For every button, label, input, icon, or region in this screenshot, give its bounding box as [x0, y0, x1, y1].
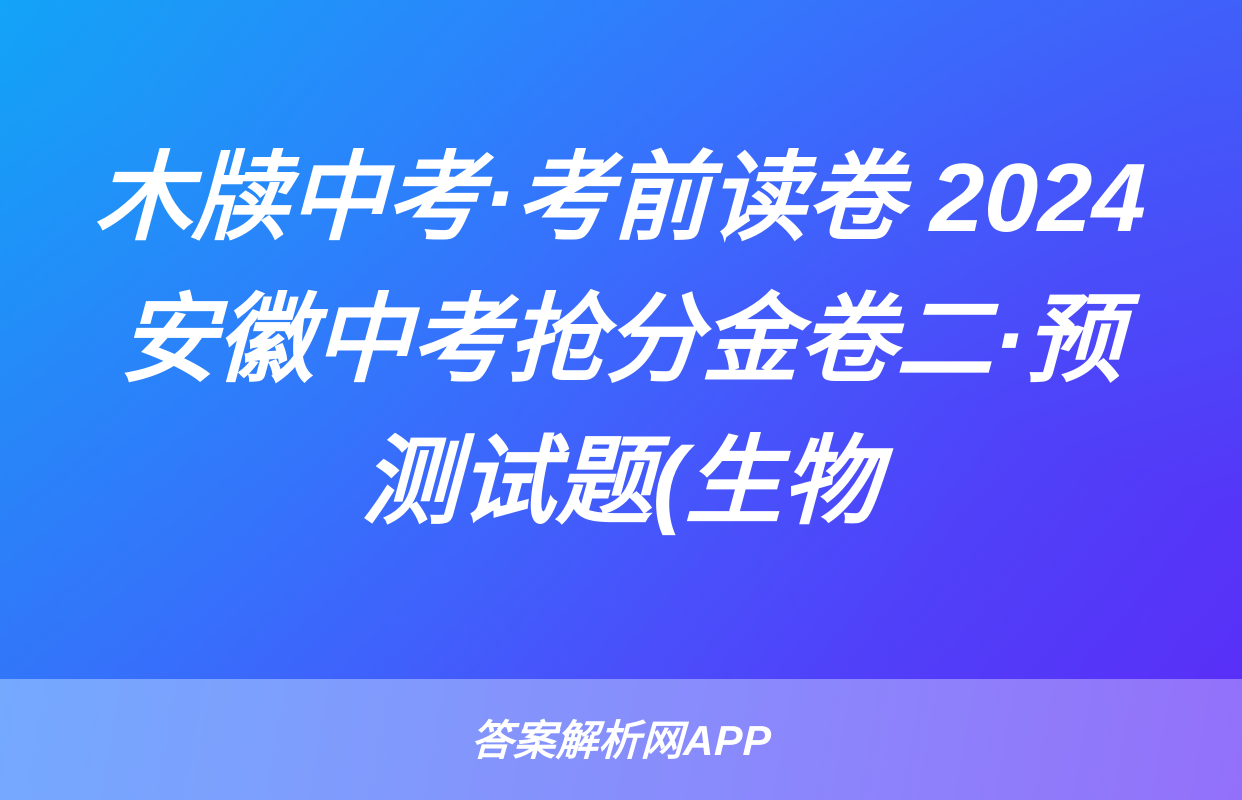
poster-title-line-3: 测试题(生物 [361, 411, 881, 553]
poster-title-block: 木牍中考·考前读卷 2024 安徽中考抢分金卷二·预 测试题(生物 [0, 0, 1242, 679]
poster-canvas: 木牍中考·考前读卷 2024 安徽中考抢分金卷二·预 测试题(生物 答案解析网A… [0, 0, 1242, 800]
poster-title-line-2: 安徽中考抢分金卷二·预 [119, 269, 1124, 411]
footer-watermark-band: 答案解析网APP [0, 679, 1242, 800]
app-watermark-label: 答案解析网APP [470, 720, 772, 762]
poster-title-line-1: 木牍中考·考前读卷 2024 [94, 127, 1148, 269]
